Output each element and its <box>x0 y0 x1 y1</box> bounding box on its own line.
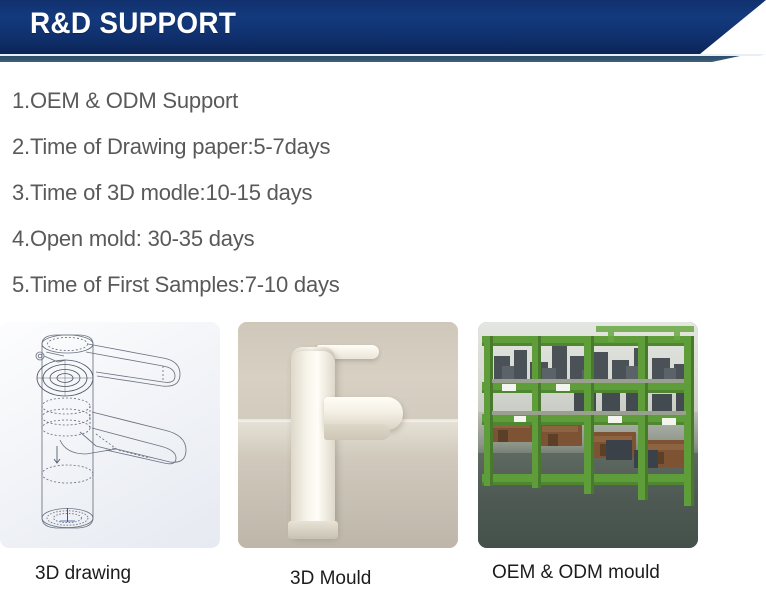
faucet-body <box>291 351 335 539</box>
page-title: R&D SUPPORT <box>30 7 236 41</box>
green-shelving-mould-storage <box>478 322 698 548</box>
list-item: 1.OEM & ODM Support <box>12 78 612 124</box>
white-3d-printed-faucet-prototype <box>238 322 458 548</box>
header-highlight-line <box>0 54 766 56</box>
page-header: R&D SUPPORT <box>0 0 766 62</box>
list-item: 3.Time of 3D modle:10-15 days <box>12 170 612 216</box>
gallery-image-3d-mould <box>238 322 458 548</box>
gallery-caption-oem-odm-mould: OEM & ODM mould <box>492 562 660 584</box>
gallery-caption-3d-drawing: 3D drawing <box>35 563 131 585</box>
faucet-spout-underside <box>324 424 390 440</box>
photo-countertop <box>238 421 458 548</box>
list-item: 2.Time of Drawing paper:5-7days <box>12 124 612 170</box>
list-item: 4.Open mold: 30-35 days <box>12 216 612 262</box>
list-item: 5.Time of First Samples:7-10 days <box>12 262 612 308</box>
header-accent-bar <box>0 56 766 62</box>
gallery-image-cad-drawing <box>0 322 220 548</box>
cad-wireframe-faucet-drawing <box>0 322 220 548</box>
gallery-caption-3d-mould: 3D Mould <box>290 568 371 590</box>
mould-rack-illustration <box>478 322 698 548</box>
support-list: 1.OEM & ODM Support 2.Time of Drawing pa… <box>12 78 612 308</box>
gallery-image-oem-odm-mould <box>478 322 698 548</box>
faucet-base <box>288 521 339 539</box>
